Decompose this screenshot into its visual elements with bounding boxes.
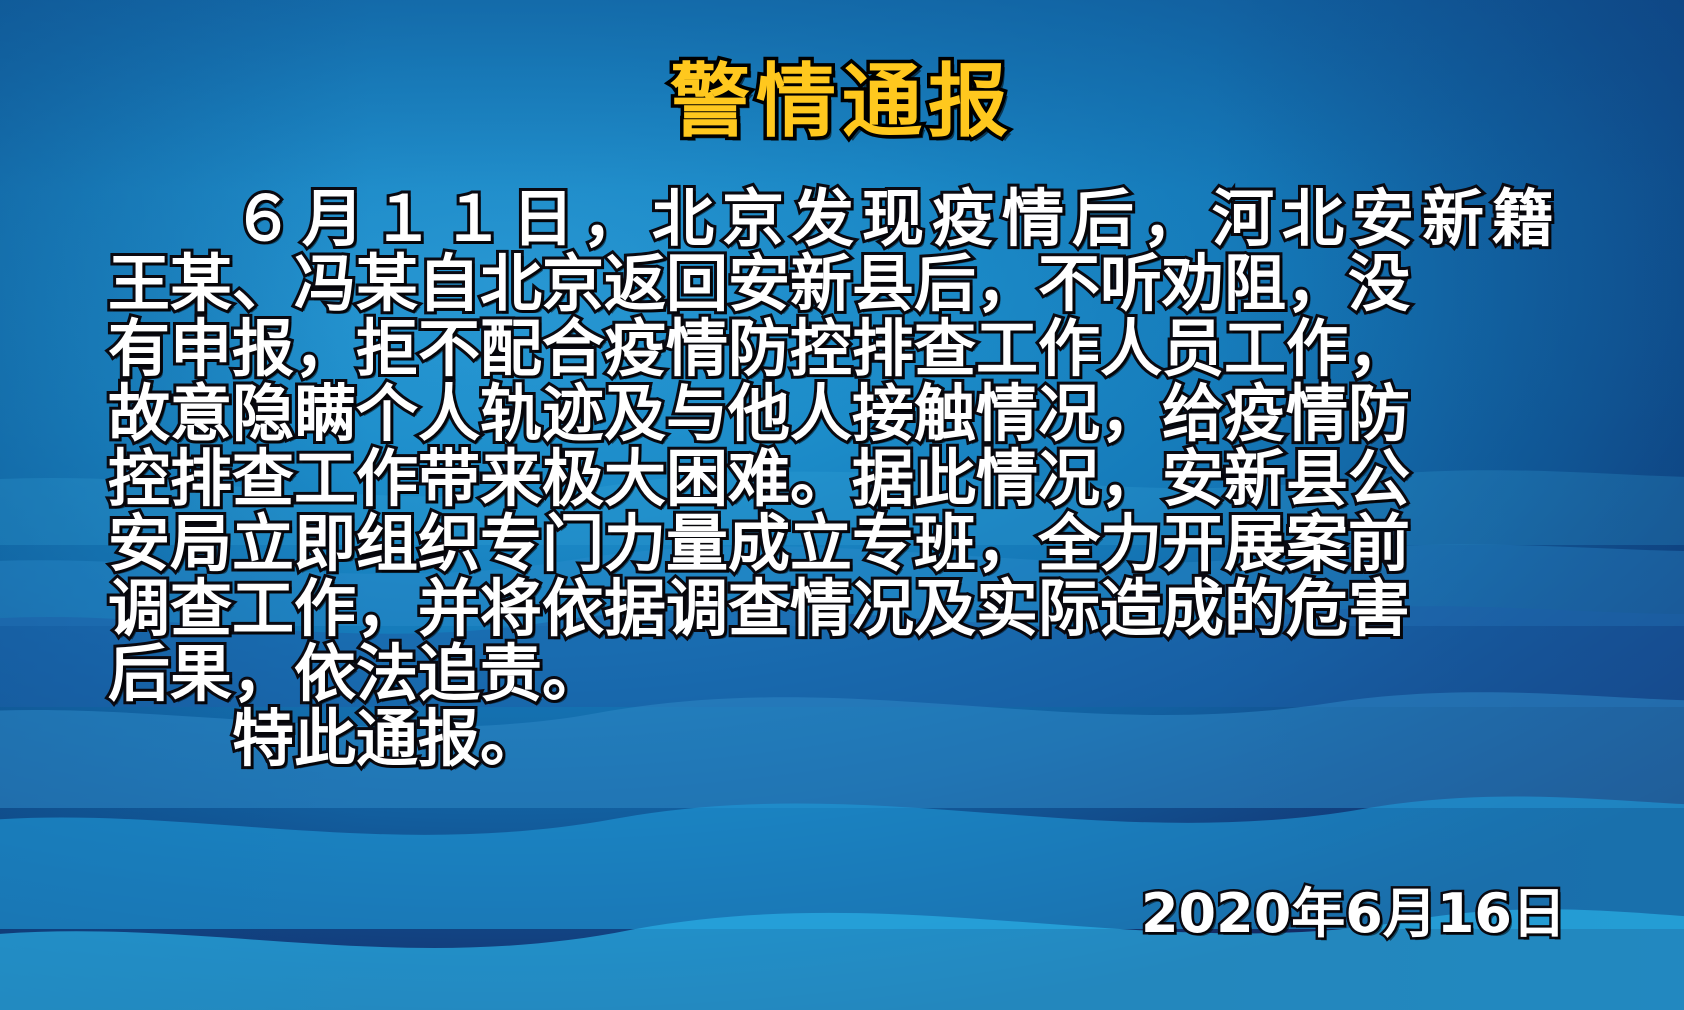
notice-date: 2020年6月16日 <box>1141 884 1566 944</box>
body-line: 故意隐瞒个人轨迹及与他人接触情况，给疫情防 <box>108 381 1578 446</box>
body-line: 控排查工作带来极大困难。据此情况，安新县公 <box>108 446 1578 511</box>
body-line: 有申报，拒不配合疫情防控排查工作人员工作， <box>108 316 1578 381</box>
police-notice-poster: 警情通报 ６月１１日，北京发现疫情后，河北安新籍 王某、冯某自北京返回安新县后，… <box>0 0 1684 1010</box>
body-line-closing: 特此通报。 <box>108 706 1578 771</box>
page-title: 警情通报 <box>0 62 1684 142</box>
notice-document: 警情通报 ６月１１日，北京发现疫情后，河北安新籍 王某、冯某自北京返回安新县后，… <box>0 0 1684 1010</box>
notice-body: ６月１１日，北京发现疫情后，河北安新籍 王某、冯某自北京返回安新县后，不听劝阻，… <box>108 186 1578 771</box>
body-line: ６月１１日，北京发现疫情后，河北安新籍 <box>108 186 1578 251</box>
body-line: 安局立即组织专门力量成立专班，全力开展案前 <box>108 511 1578 576</box>
body-line: 调查工作，并将依据调查情况及实际造成的危害 <box>108 576 1578 641</box>
body-line: 王某、冯某自北京返回安新县后，不听劝阻，没 <box>108 251 1578 316</box>
body-line: 后果，依法追责。 <box>108 641 1578 706</box>
